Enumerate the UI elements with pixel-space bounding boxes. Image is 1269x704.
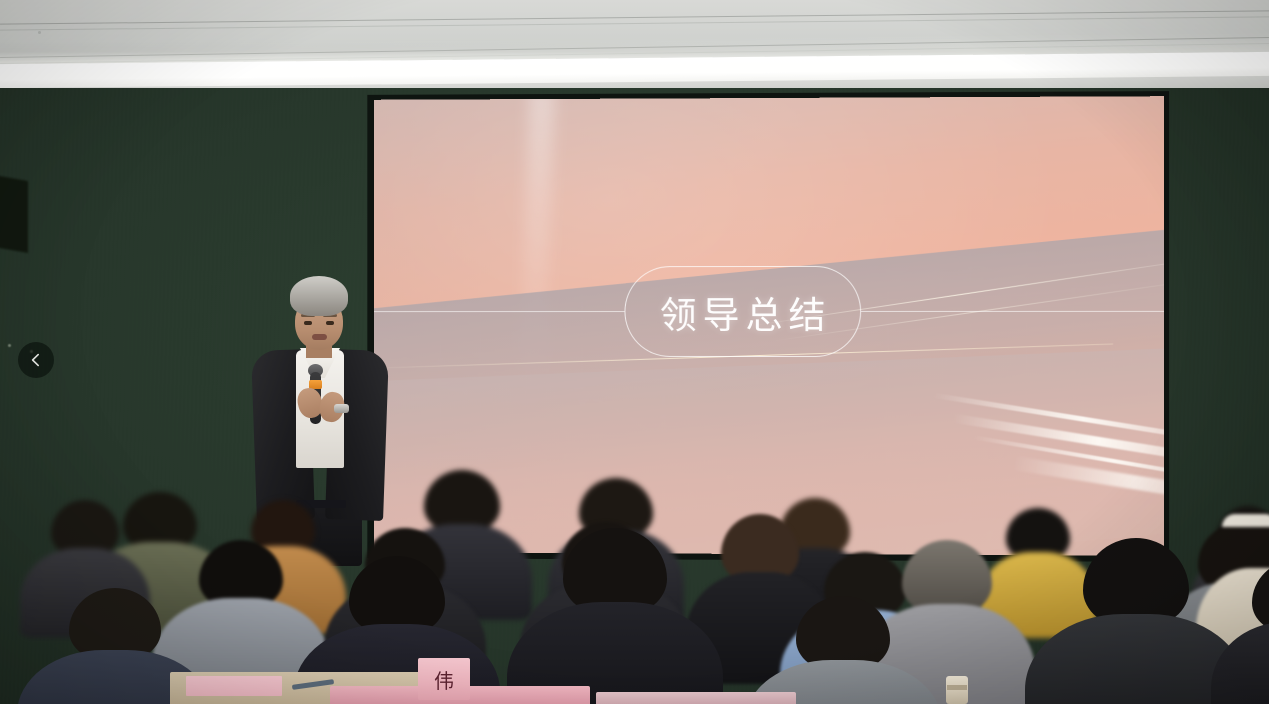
prev-button[interactable] <box>18 342 54 378</box>
slide-rule-left <box>374 311 624 312</box>
headband <box>1222 514 1269 527</box>
slide-rule-right <box>861 311 1164 312</box>
audience-person <box>1236 560 1269 704</box>
audience-person <box>768 596 918 704</box>
ceiling-fixture-dot <box>38 31 41 34</box>
desk-paper <box>186 676 282 696</box>
name-placard[interactable]: 伟 <box>418 658 470 700</box>
audience-person <box>1056 538 1216 704</box>
cup-band <box>947 685 967 690</box>
desk-cup <box>946 676 968 704</box>
name-placard-text: 伟 <box>434 665 454 694</box>
audience-person <box>536 528 694 704</box>
speaker-wristwatch <box>334 404 349 413</box>
speaker-eye <box>304 321 312 325</box>
wall-speck <box>8 344 11 347</box>
speaker-eye <box>326 321 334 325</box>
speaker-hair <box>290 276 348 316</box>
audience-person <box>40 588 190 704</box>
presentation-photo-scene: 领导总结 <box>0 0 1269 704</box>
ceiling-panel-line <box>0 16 1269 30</box>
chevron-left-icon <box>28 352 44 368</box>
speaker-mouth <box>312 334 327 340</box>
slide-title-pill: 领导总结 <box>624 266 861 357</box>
audience-person <box>176 540 306 690</box>
wall-monitor-corner <box>0 175 28 253</box>
front-desk-skirt <box>596 692 796 704</box>
slide-title-text: 领导总结 <box>654 284 832 338</box>
ceiling <box>0 0 1269 100</box>
person-head <box>1252 560 1269 634</box>
